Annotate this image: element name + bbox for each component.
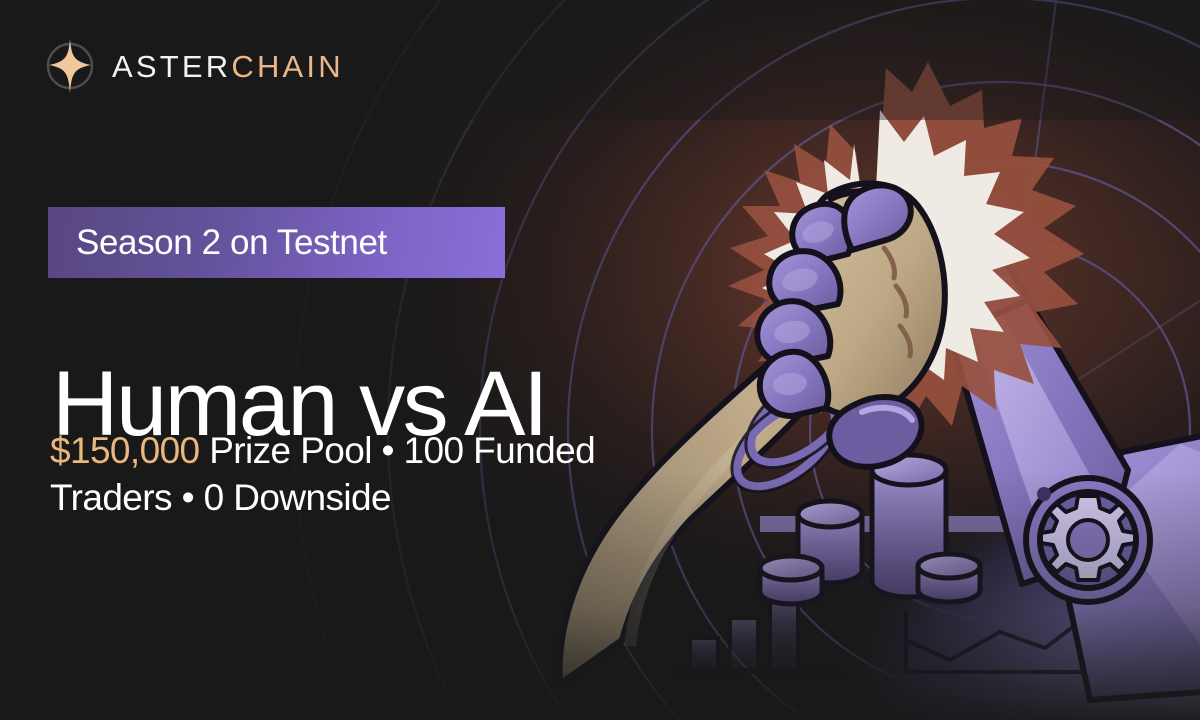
aster-star-in-circle-icon	[42, 38, 98, 94]
promo-subtitle: $150,000 Prize Pool • 100 Funded Traders…	[50, 427, 650, 522]
brand-wordmark: ASTERCHAIN	[112, 51, 344, 82]
brand-name-secondary: CHAIN	[231, 49, 343, 84]
season-badge-label: Season 2 on Testnet	[48, 225, 387, 260]
brand-name-primary: ASTER	[112, 49, 231, 84]
season-badge[interactable]: Season 2 on Testnet	[48, 207, 505, 278]
brand-logo[interactable]: ASTERCHAIN	[42, 38, 344, 94]
prize-amount: $150,000	[50, 430, 200, 471]
promo-banner: ASTERCHAIN Season 2 on Testnet Human vs …	[0, 0, 1200, 720]
